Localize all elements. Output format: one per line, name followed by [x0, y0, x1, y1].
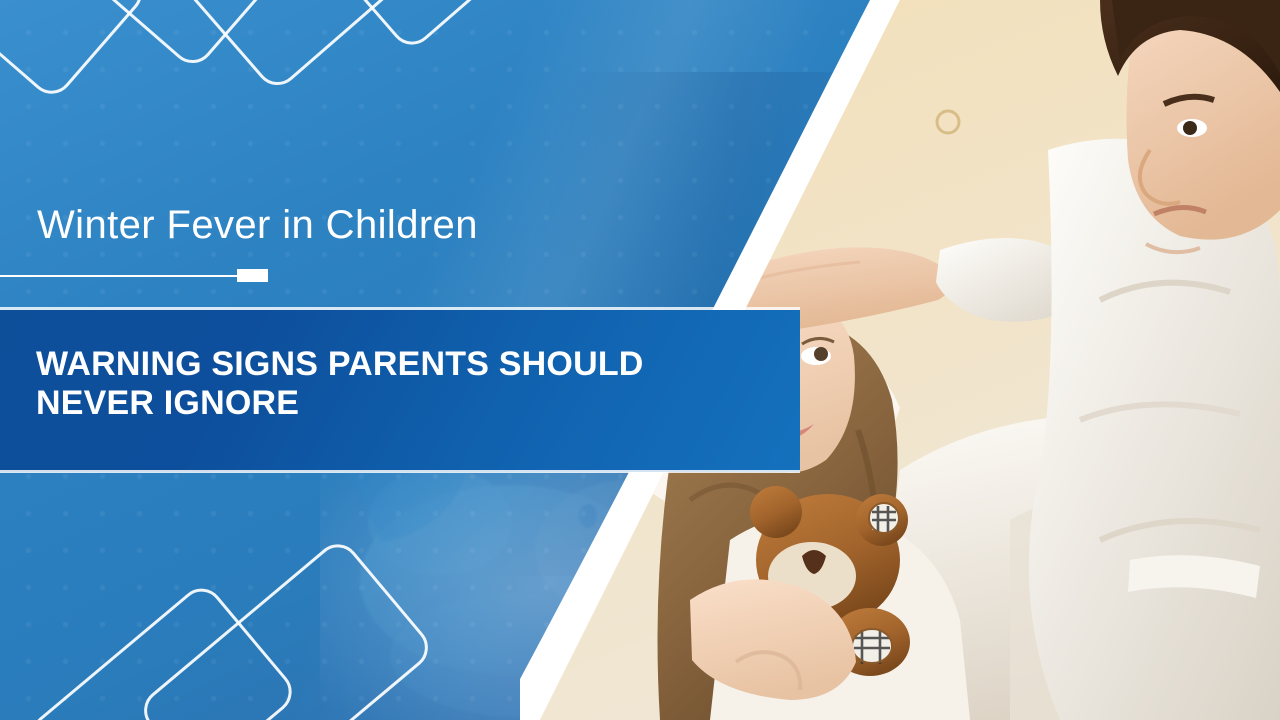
headline-text: Warning Signs Parents Should Never Ignor… [36, 345, 736, 424]
eyebrow-title: Winter Fever in Children [37, 203, 478, 248]
band-rule-top [0, 307, 800, 310]
divider-accent-block [237, 269, 268, 282]
band-rule-bottom [0, 470, 800, 473]
poster-banner: Warning Signs Parents Should Never Ignor… [0, 0, 1280, 720]
divider-line [0, 275, 238, 277]
